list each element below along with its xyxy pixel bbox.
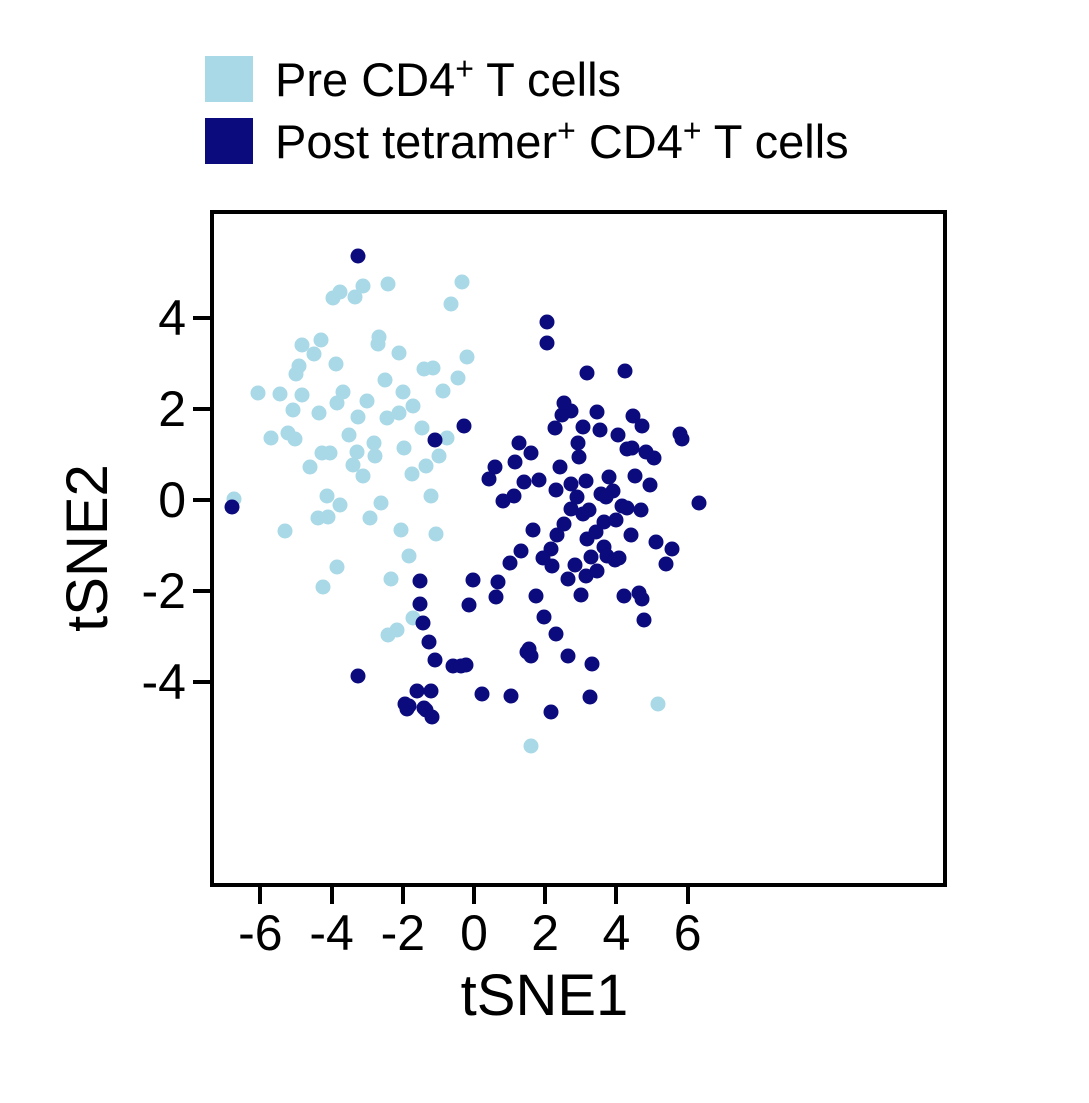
- scatter-point: [459, 657, 474, 672]
- scatter-point: [462, 598, 477, 613]
- scatter-point: [451, 370, 466, 385]
- scatter-point: [427, 652, 442, 667]
- scatter-point: [413, 597, 428, 612]
- x-tick: [258, 887, 262, 904]
- scatter-point: [286, 402, 301, 417]
- scatter-point: [459, 350, 474, 365]
- scatter-point: [371, 337, 386, 352]
- scatter-point: [250, 385, 265, 400]
- scatter-point: [398, 697, 413, 712]
- scatter-point: [552, 459, 567, 474]
- scatter-point: [584, 550, 599, 565]
- x-tick: [401, 887, 405, 904]
- scatter-point: [322, 446, 337, 461]
- scatter-point: [628, 468, 643, 483]
- scatter-point: [413, 574, 428, 589]
- scatter-point: [516, 475, 531, 490]
- scatter-point: [384, 571, 399, 586]
- scatter-point: [277, 524, 292, 539]
- scatter-point: [560, 648, 575, 663]
- scatter-point: [569, 490, 584, 505]
- legend-label-post: Post tetramer+ CD4+ T cells: [275, 118, 849, 165]
- scatter-point: [490, 575, 505, 590]
- scatter-point: [380, 276, 395, 291]
- scatter-point: [592, 423, 607, 438]
- x-tick-label: 2: [531, 905, 559, 961]
- scatter-point: [642, 477, 657, 492]
- y-tick: [193, 589, 210, 593]
- legend-swatch-pre: [205, 56, 253, 102]
- scatter-point: [414, 421, 429, 436]
- scatter-point: [514, 543, 529, 558]
- scatter-point: [444, 296, 459, 311]
- scatter-point: [488, 459, 503, 474]
- scatter-point: [635, 419, 650, 434]
- scatter-point: [647, 450, 662, 465]
- scatter-point: [624, 527, 639, 542]
- scatter-point: [539, 314, 554, 329]
- scatter-point: [508, 454, 523, 469]
- scatter-point: [567, 558, 582, 573]
- scatter-point: [589, 404, 604, 419]
- scatter-point: [590, 564, 605, 579]
- scatter-point: [503, 556, 518, 571]
- scatter-point: [356, 468, 371, 483]
- scatter-point: [556, 395, 571, 410]
- scatter-point: [312, 405, 327, 420]
- scatter-point: [692, 496, 707, 511]
- scatter-point: [589, 525, 604, 540]
- scatter-point: [503, 689, 518, 704]
- x-tick: [686, 887, 690, 904]
- x-axis-title: tSNE1: [0, 963, 1089, 1029]
- scatter-point: [625, 441, 640, 456]
- scatter-point: [351, 248, 366, 263]
- scatter-point: [616, 588, 631, 603]
- scatter-point: [465, 573, 480, 588]
- scatter-point: [634, 591, 649, 606]
- scatter-point: [330, 559, 345, 574]
- scatter-point: [523, 446, 538, 461]
- scatter-point: [536, 609, 551, 624]
- y-tick: [193, 498, 210, 502]
- scatter-point: [394, 523, 409, 538]
- scatter-point: [436, 384, 451, 399]
- scatter-point: [307, 346, 322, 361]
- scatter-point: [634, 503, 649, 518]
- scatter-point: [650, 697, 665, 712]
- x-tick-label: -6: [238, 905, 282, 961]
- x-tick: [614, 887, 618, 904]
- scatter-point: [474, 687, 489, 702]
- scatter-point: [649, 534, 664, 549]
- scatter-point: [350, 668, 365, 683]
- plot-frame: [210, 210, 947, 887]
- scatter-point: [320, 510, 335, 525]
- scatter-point: [601, 469, 616, 484]
- scatter-point: [335, 385, 350, 400]
- scatter-point: [272, 386, 287, 401]
- x-tick: [330, 887, 334, 904]
- scatter-point: [416, 361, 431, 376]
- scatter-point: [381, 627, 396, 642]
- scatter-point: [576, 419, 591, 434]
- x-tick: [472, 887, 476, 904]
- scatter-point: [409, 683, 424, 698]
- x-tick-label: 4: [602, 905, 630, 961]
- scatter-point: [302, 459, 317, 474]
- scatter-point: [314, 332, 329, 347]
- scatter-point: [405, 399, 420, 414]
- scatter-point: [584, 657, 599, 672]
- scatter-point: [582, 502, 597, 517]
- legend: Pre CD4+ T cells Post tetramer+ CD4+ T c…: [205, 48, 1085, 172]
- scatter-point: [377, 373, 392, 388]
- scatter-point: [373, 496, 388, 511]
- scatter-point: [548, 483, 563, 498]
- scatter-point: [295, 388, 310, 403]
- scatter-point: [391, 406, 406, 421]
- scatter-point: [347, 289, 362, 304]
- scatter-point: [610, 427, 625, 442]
- scatter-point: [658, 557, 673, 572]
- y-tick: [193, 316, 210, 320]
- scatter-point: [351, 409, 366, 424]
- scatter-point: [332, 497, 347, 512]
- scatter-point: [528, 588, 543, 603]
- scatter-point: [495, 493, 510, 508]
- x-tick-label: -4: [309, 905, 353, 961]
- y-tick: [193, 680, 210, 684]
- scatter-point: [345, 457, 360, 472]
- tsne-scatter-figure: Pre CD4+ T cells Post tetramer+ CD4+ T c…: [0, 0, 1089, 1103]
- scatter-point: [526, 523, 541, 538]
- legend-entry-pre: Pre CD4+ T cells: [205, 48, 1085, 110]
- legend-label-pre: Pre CD4+ T cells: [275, 56, 621, 103]
- scatter-point: [424, 489, 439, 504]
- scatter-point: [557, 517, 572, 532]
- scatter-point: [328, 357, 343, 372]
- scatter-point: [391, 346, 406, 361]
- scatter-point: [636, 613, 651, 628]
- scatter-point: [573, 588, 588, 603]
- scatter-point: [548, 420, 563, 435]
- y-tick-label: 4: [0, 290, 186, 346]
- scatter-point: [578, 473, 593, 488]
- scatter-point: [421, 635, 436, 650]
- scatter-point: [428, 432, 443, 447]
- scatter-point: [402, 549, 417, 564]
- scatter-point: [456, 418, 471, 433]
- scatter-point: [397, 441, 412, 456]
- scatter-point: [560, 572, 575, 587]
- scatter-point: [583, 690, 598, 705]
- scatter-point: [404, 466, 419, 481]
- scatter-point: [535, 550, 550, 565]
- scatter-point: [341, 427, 356, 442]
- scatter-point: [396, 385, 411, 400]
- scatter-point: [315, 579, 330, 594]
- scatter-point: [419, 459, 434, 474]
- scatter-point: [524, 649, 539, 664]
- scatter-point: [359, 394, 374, 409]
- scatter-point: [454, 274, 469, 289]
- x-tick-label: 0: [460, 905, 488, 961]
- scatter-point: [619, 500, 634, 515]
- x-tick-label: -2: [381, 905, 425, 961]
- scatter-point: [571, 450, 586, 465]
- scatter-point: [363, 510, 378, 525]
- scatter-point: [617, 364, 632, 379]
- scatter-point: [415, 616, 430, 631]
- scatter-point: [432, 449, 447, 464]
- scatter-point: [524, 739, 539, 754]
- scatter-point: [571, 435, 586, 450]
- y-tick: [193, 407, 210, 411]
- x-tick: [543, 887, 547, 904]
- scatter-point: [665, 541, 680, 556]
- scatter-point: [579, 365, 594, 380]
- x-tick-label: 6: [674, 905, 702, 961]
- scatter-point: [289, 367, 304, 382]
- scatter-points-layer: [214, 214, 943, 883]
- scatter-point: [429, 527, 444, 542]
- scatter-point: [263, 431, 278, 446]
- scatter-point: [599, 490, 614, 505]
- scatter-point: [532, 473, 547, 488]
- scatter-point: [611, 550, 626, 565]
- scatter-point: [540, 335, 555, 350]
- scatter-point: [549, 626, 564, 641]
- scatter-point: [425, 709, 440, 724]
- scatter-point: [326, 290, 341, 305]
- scatter-point: [224, 500, 239, 515]
- scatter-point: [424, 684, 439, 699]
- scatter-point: [543, 705, 558, 720]
- scatter-point: [368, 449, 383, 464]
- scatter-point: [609, 512, 624, 527]
- scatter-point: [488, 590, 503, 605]
- scatter-point: [674, 431, 689, 446]
- y-axis-title: tSNE2: [55, 398, 121, 698]
- legend-swatch-post: [205, 118, 253, 164]
- scatter-point: [288, 431, 303, 446]
- legend-entry-post: Post tetramer+ CD4+ T cells: [205, 110, 1085, 172]
